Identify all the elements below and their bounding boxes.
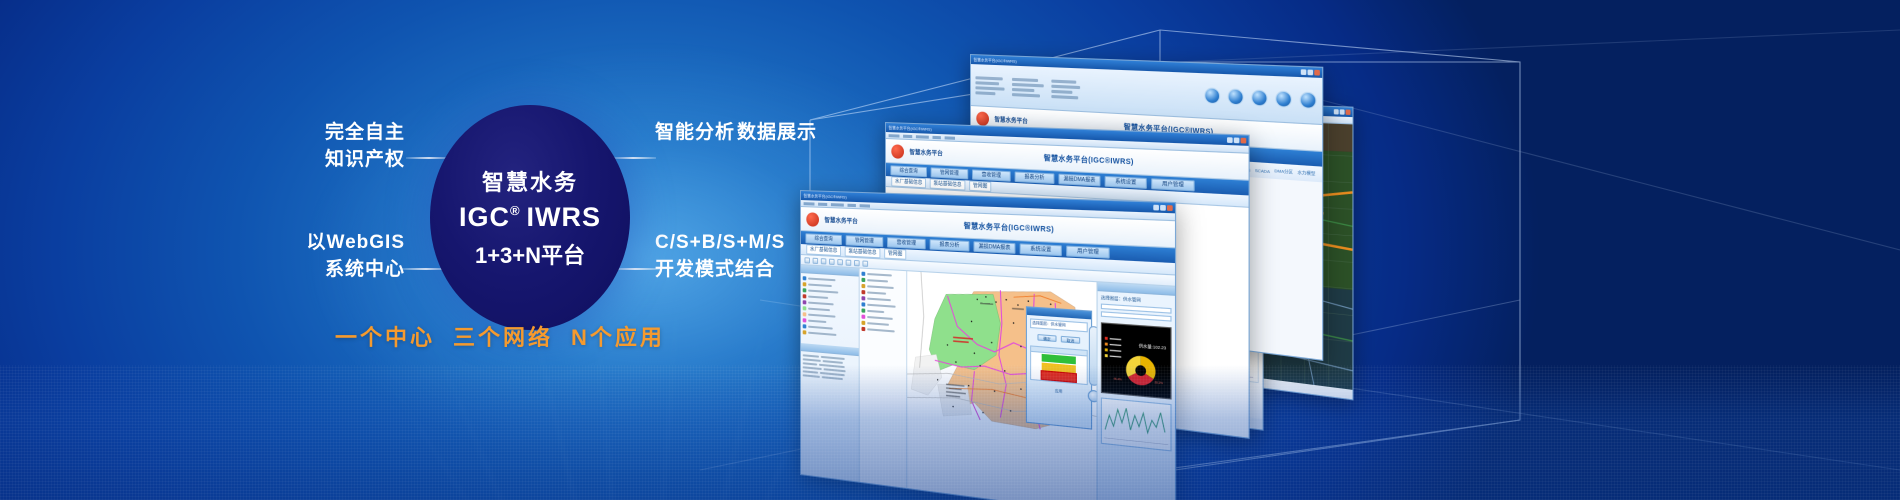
help-icon[interactable] [1300,92,1317,110]
globe-icon[interactable] [1204,87,1220,104]
grading-dialog[interactable]: 选择图层：供水管网 确定 取消 应用 [1026,306,1092,429]
mini-trend-chart [1101,397,1172,451]
sub-nav-item[interactable]: 水厂基础信息 [891,176,926,188]
dialog-apply-note[interactable]: 应用 [1030,386,1088,397]
app-logo-icon [891,144,904,159]
nav-item[interactable]: 营收管理 [887,237,926,249]
sub-nav-item[interactable]: 泵站基础信息 [845,246,881,258]
close-icon[interactable] [1167,205,1173,211]
feature-bottom-left-line2: 系统中心 [258,257,405,284]
feature-tree-panel[interactable] [860,268,908,490]
props-list [801,351,859,385]
layers-panel[interactable] [801,265,860,484]
nav-item[interactable]: 综合查询 [890,165,927,177]
app-logo-icon [806,212,819,227]
brand-label: 智慧水务平台 [909,147,942,158]
maximize-icon[interactable] [1340,109,1345,114]
banner-root: 完全自主 知识产权 智能分析 数据展示 以WebGIS 系统中心 C/S+B/S… [0,0,1900,500]
identify-icon[interactable] [846,259,852,265]
minimize-icon[interactable] [1334,109,1339,114]
sub-nav-item[interactable]: 水厂基础信息 [806,244,841,256]
grade-swatch-red [1042,371,1076,382]
nav-item[interactable]: 管网管理 [931,167,969,179]
ribbon-group[interactable] [1051,79,1080,99]
nav-item[interactable]: 系统设置 [1105,175,1147,188]
status-tag: SCADA [1255,167,1270,174]
slogan-part2: 三个网络 [453,325,553,350]
minimize-icon[interactable] [1227,137,1233,143]
nav-item[interactable]: 营收管理 [972,169,1011,181]
status-tag: DMA分区 [1274,168,1293,176]
hub-line3: 1+3+N平台 [475,238,585,270]
ribbon-buttons[interactable] [1204,87,1316,109]
slogan: 一个中心三个网络N个应用 [335,320,665,352]
print-icon[interactable] [854,259,860,265]
measure-icon[interactable] [837,259,843,265]
nav-item[interactable]: 用户管理 [1066,245,1110,258]
feature-label-bottom-left: 以WebGIS 系统中心 [258,230,405,284]
donut-chart-panel: 供水量:102.23 46.4% 30.2% [1101,322,1172,399]
slogan-part3: N个应用 [571,325,665,350]
taskbar-item[interactable] [843,492,867,500]
hub-iwrs: IWRS [527,202,602,233]
hub-line2: IGC®IWRS [459,202,601,233]
zoom-out-icon[interactable] [821,258,826,264]
hub-line1: 智慧水务 [482,165,578,197]
brand-label: 智慧水务平台 [824,215,857,226]
zoom-in-icon[interactable] [813,257,818,263]
sub-nav-item[interactable]: 泵站基础信息 [930,178,966,190]
feature-top-right-line1: 智能分析 [655,120,735,147]
status-tag: 水力模型 [1297,169,1315,177]
taskbar-item[interactable] [804,486,840,496]
settings-icon[interactable] [1275,90,1292,107]
sub-nav-item[interactable]: 管网图 [969,181,991,193]
dialog-field-layer[interactable]: 选择图层：供水管网 [1030,318,1088,332]
feature-bottom-left-line1: 以WebGIS [258,230,405,257]
software-window-stack: 智慧水务平台(IGC®IWRS) [760,40,1580,460]
nav-item[interactable]: 报表分析 [1015,171,1055,184]
select-icon[interactable] [829,258,835,264]
nav-item[interactable]: 用户管理 [1151,178,1195,191]
minimize-icon[interactable] [1301,69,1307,75]
layers-icon[interactable] [862,260,868,266]
map-zoom-slider[interactable] [1089,326,1097,386]
registered-icon: ® [510,204,521,217]
feature-top-left-line1: 完全自主 [270,120,405,147]
gis-map-canvas[interactable]: 选择图层：供水管网 确定 取消 应用 [907,271,1096,500]
hub-ellipse: 智慧水务 IGC®IWRS 1+3+N平台 [430,105,630,330]
close-icon[interactable] [1346,110,1351,115]
statistics-panel[interactable]: 选择图层：供水管网 [1096,282,1174,500]
sub-nav-item[interactable]: 管网图 [884,248,906,259]
nav-item[interactable]: 综合查询 [805,233,842,245]
feature-cluster: 完全自主 知识产权 智能分析 数据展示 以WebGIS 系统中心 C/S+B/S… [270,105,790,335]
layer-tree[interactable] [801,273,859,342]
nav-item[interactable]: 报表分析 [930,239,970,251]
app-logo-icon [976,111,989,126]
nav-item[interactable]: 管网管理 [846,235,884,247]
hub-igc: IGC [459,202,510,233]
minimize-icon[interactable] [1153,205,1159,211]
feature-label-top-left: 完全自主 知识产权 [270,120,405,174]
close-icon[interactable] [1241,138,1247,144]
feature-tree-item[interactable] [862,327,905,334]
refresh-icon[interactable] [1251,89,1267,106]
maximize-icon[interactable] [1308,70,1314,76]
user-icon[interactable] [1228,88,1244,105]
feature-top-left-line2: 知识产权 [270,147,405,174]
pan-icon[interactable] [805,257,810,263]
maximize-icon[interactable] [1234,137,1240,143]
connector-top-right [610,157,656,159]
window-body: 选择图层：供水管网 确定 取消 应用 [801,265,1175,500]
brand-label: 智慧水务平台 [994,114,1027,125]
ribbon-group[interactable] [1012,77,1044,97]
slogan-part1: 一个中心 [335,325,435,350]
nav-item[interactable]: 漏损DMA报表 [1058,173,1100,186]
close-icon[interactable] [1314,70,1320,76]
maximize-icon[interactable] [1160,205,1166,211]
ribbon-group[interactable] [975,76,1004,95]
dialog-ok-button[interactable]: 确定 [1037,334,1056,342]
dialog-cancel-button[interactable]: 取消 [1061,336,1080,344]
dialog-grading-table[interactable] [1030,345,1088,385]
app-window-front-gis[interactable]: 智慧水务平台(IGC®IWRS) 智慧水务平台 智慧水务平台(IGC®IWRS)… [800,190,1176,500]
nav-item[interactable]: 系统设置 [1020,243,1062,256]
nav-item[interactable]: 漏损DMA报表 [973,241,1015,254]
